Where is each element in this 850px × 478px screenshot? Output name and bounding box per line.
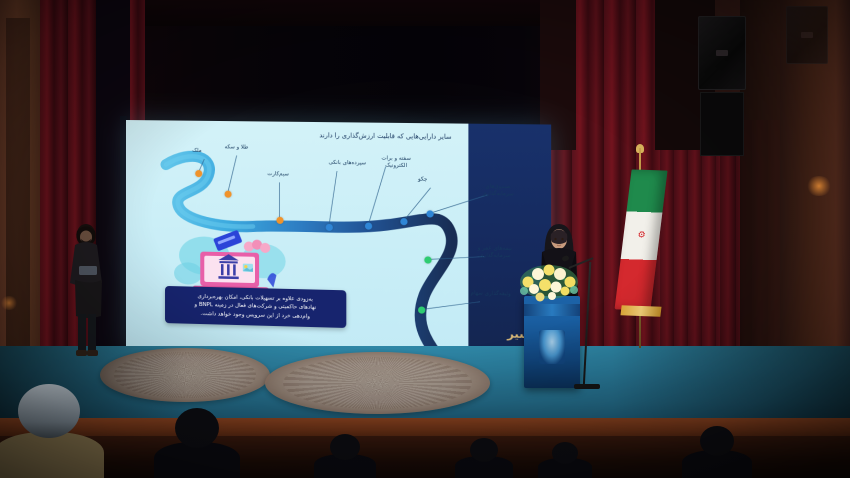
journey-node-label: سیم‌کارت [267, 171, 289, 178]
flag-fringe [620, 305, 661, 316]
projection-screen: سایر دارایی‌هایی که قابلیت ارزش‌گذاری را… [126, 120, 551, 365]
audience-member [0, 432, 104, 478]
ceiling-speaker-icon-right [786, 6, 828, 64]
journey-node-dot [224, 190, 231, 197]
journey-node-label: وثیقه‌گذاری سهام [467, 290, 514, 298]
wall-lamp-icon [806, 176, 832, 196]
journey-node-label: بیمه‌های عمر و سرمایه‌گذاری [472, 245, 519, 260]
journey-node-dot [400, 217, 407, 224]
speaker-brand-logo-icon [716, 50, 728, 56]
wall-lamp-icon-left [0, 296, 18, 310]
podium-emblem-icon [539, 330, 565, 364]
journey-node-dot [424, 256, 431, 263]
presentation-slide: سایر دارایی‌هایی که قابلیت ارزش‌گذاری را… [126, 120, 551, 365]
journey-node-dot [364, 222, 371, 229]
iran-flag: ⚙ [617, 148, 663, 348]
audience-member-head [700, 426, 734, 456]
journey-node-label: سپرده‌های بانکی [325, 160, 370, 167]
microphone-base [574, 384, 600, 389]
speaker-brand-logo-icon-2 [801, 32, 813, 38]
audience-member-head [470, 438, 498, 462]
podium-banner-band [524, 304, 580, 316]
speaker-stand-column [700, 92, 744, 156]
journey-node-dot [426, 210, 433, 217]
journey-node-label: ملک [192, 148, 201, 155]
journey-node-dot [276, 216, 283, 223]
info-callout-box: به‌زودی علاوه بر تسهیلات بانکی، امکان به… [165, 286, 346, 328]
podium [524, 296, 580, 388]
audience-member-head [552, 442, 578, 464]
journey-node-dot [325, 223, 332, 230]
journey-node-label: چکو [418, 176, 427, 183]
journey-node-dot [418, 306, 425, 313]
flag-cloth: ⚙ [615, 169, 668, 310]
journey-node-dot [195, 170, 202, 177]
stage-floor-shading [0, 346, 850, 426]
ceiling-speaker-icon-left [698, 16, 746, 90]
flag-emblem-icon: ⚙ [636, 231, 646, 240]
conference-stage-photo: سایر دارایی‌هایی که قابلیت ارزش‌گذاری را… [0, 0, 850, 478]
journey-node-label: طلا و سکه [225, 144, 249, 151]
audience-member-head [330, 434, 360, 460]
audience-member-head [18, 384, 80, 438]
audience-member-head [175, 408, 219, 448]
journey-node-label: صندوق‌های سرمایه‌گذاری [475, 183, 522, 197]
journey-node-label: سفته و برات الکترونیک [373, 155, 419, 169]
stage-curtain-top [145, 0, 545, 26]
stage-assistant [63, 222, 109, 356]
